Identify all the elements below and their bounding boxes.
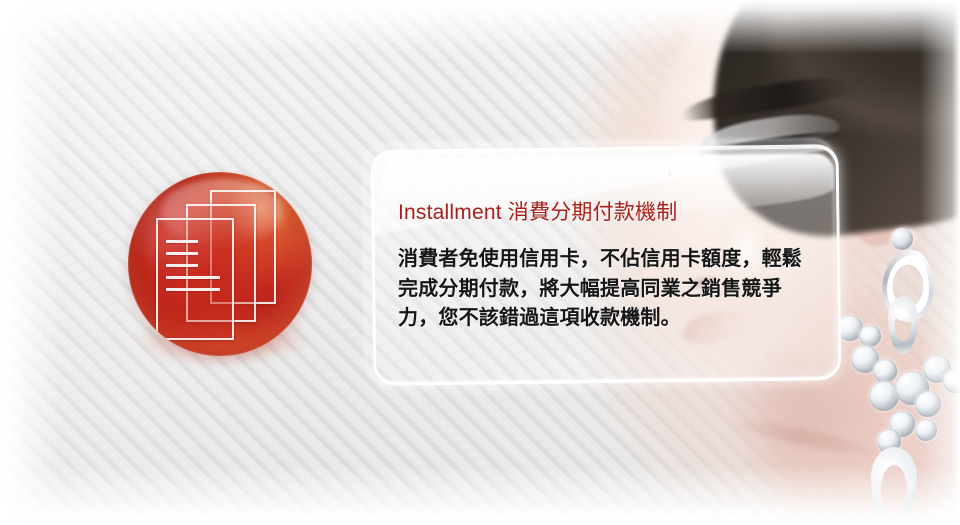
document-text-lines bbox=[166, 240, 220, 300]
headline-chinese: 消費分期付款機制 bbox=[508, 200, 678, 224]
necklace-teardrop-pendant bbox=[871, 447, 917, 525]
necklace-stone bbox=[859, 325, 881, 347]
headline-english: Installment bbox=[398, 201, 502, 224]
document-line bbox=[166, 276, 220, 279]
necklace-stone bbox=[943, 369, 960, 393]
sphere-gloss-highlight bbox=[161, 179, 282, 245]
installment-promo-banner: Installment 消費分期付款機制 消費者免使用信用卡，不佔信用卡額度，輕… bbox=[0, 0, 960, 525]
necklace-stone bbox=[915, 419, 937, 441]
page-title: Installment 消費分期付款機制 bbox=[398, 196, 828, 226]
body-copy: 消費者免使用信用卡，不佔信用卡額度，輕鬆完成分期付款，將大幅提高同業之銷售競爭力… bbox=[398, 244, 816, 333]
text-block: Installment 消費分期付款機制 消費者免使用信用卡，不佔信用卡額度，輕… bbox=[398, 196, 828, 333]
installment-documents-sphere-icon: Installment bbox=[128, 172, 312, 356]
necklace-stone bbox=[915, 391, 941, 417]
document-line bbox=[166, 288, 220, 291]
document-line bbox=[166, 252, 198, 255]
earring-stud bbox=[891, 228, 913, 250]
necklace-stone bbox=[873, 359, 897, 383]
document-line bbox=[166, 264, 198, 267]
